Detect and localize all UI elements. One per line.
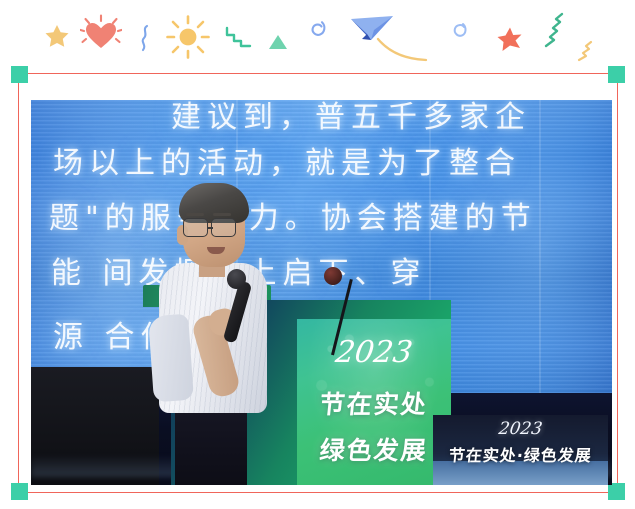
star-doodle-red [496,26,524,54]
frame-corner-bottom-right [608,483,625,500]
podium-script-mark: 2023 [297,335,451,370]
triangle-doodle [267,33,289,51]
banner-script-mark: 2023 [433,419,608,439]
podium-front-panel: 2023 节在实处 绿色发展 [297,319,451,485]
eyeglasses-bridge [207,227,213,229]
led-text-line: 能 间发挥承上启下、穿 [31,248,612,292]
event-photo: 建议到，普五千多家企 场以上的活动，就是为了整合 题"的服务能力。协会搭建的节 … [31,100,612,485]
frame-corner-top-right [608,66,625,83]
plane-trail-doodle [376,37,432,65]
secondary-banner: 2023 节在实处·绿色发展 [433,415,608,485]
zigzag-doodle-green-2 [540,12,566,48]
led-text-line: 建议到，普五千多家企 [31,100,612,136]
sun-doodle [166,15,210,59]
zigzag-doodle-green [225,26,253,48]
frame-corner-bottom-left [11,483,28,500]
speaker-eyebrow-left [186,213,204,216]
podium-slogan-line1: 节在实处 [297,385,451,421]
spiral-doodle-right [448,19,472,43]
podium-slogan-line2: 绿色发展 [297,431,451,467]
spiral-doodle-left [305,17,331,43]
frame-corner-top-left [11,66,28,83]
page-root: 建议到，普五千多家企 场以上的活动，就是为了整合 题"的服务能力。协会搭建的节 … [0,0,635,509]
led-text-line: 题"的服务能力。协会搭建的节 [31,193,612,237]
heart-burst-doodle [80,14,122,56]
eyeglasses-lens-left [183,218,208,237]
led-text-line: 场以上的活动，就是为了整合 [31,138,612,182]
speaker-hair [179,183,249,223]
star-doodle [44,23,70,49]
decoration-band [0,0,635,72]
eyeglasses-lens-right [211,218,236,237]
zigzag-doodle-yellow [572,40,594,62]
banner-slogan: 节在实处·绿色发展 [433,442,608,466]
speaker-eyebrow-right [213,213,231,216]
stand-microphone-head [324,267,342,285]
squiggle-doodle-blue [138,24,152,52]
speaker-sleeve [148,314,194,403]
